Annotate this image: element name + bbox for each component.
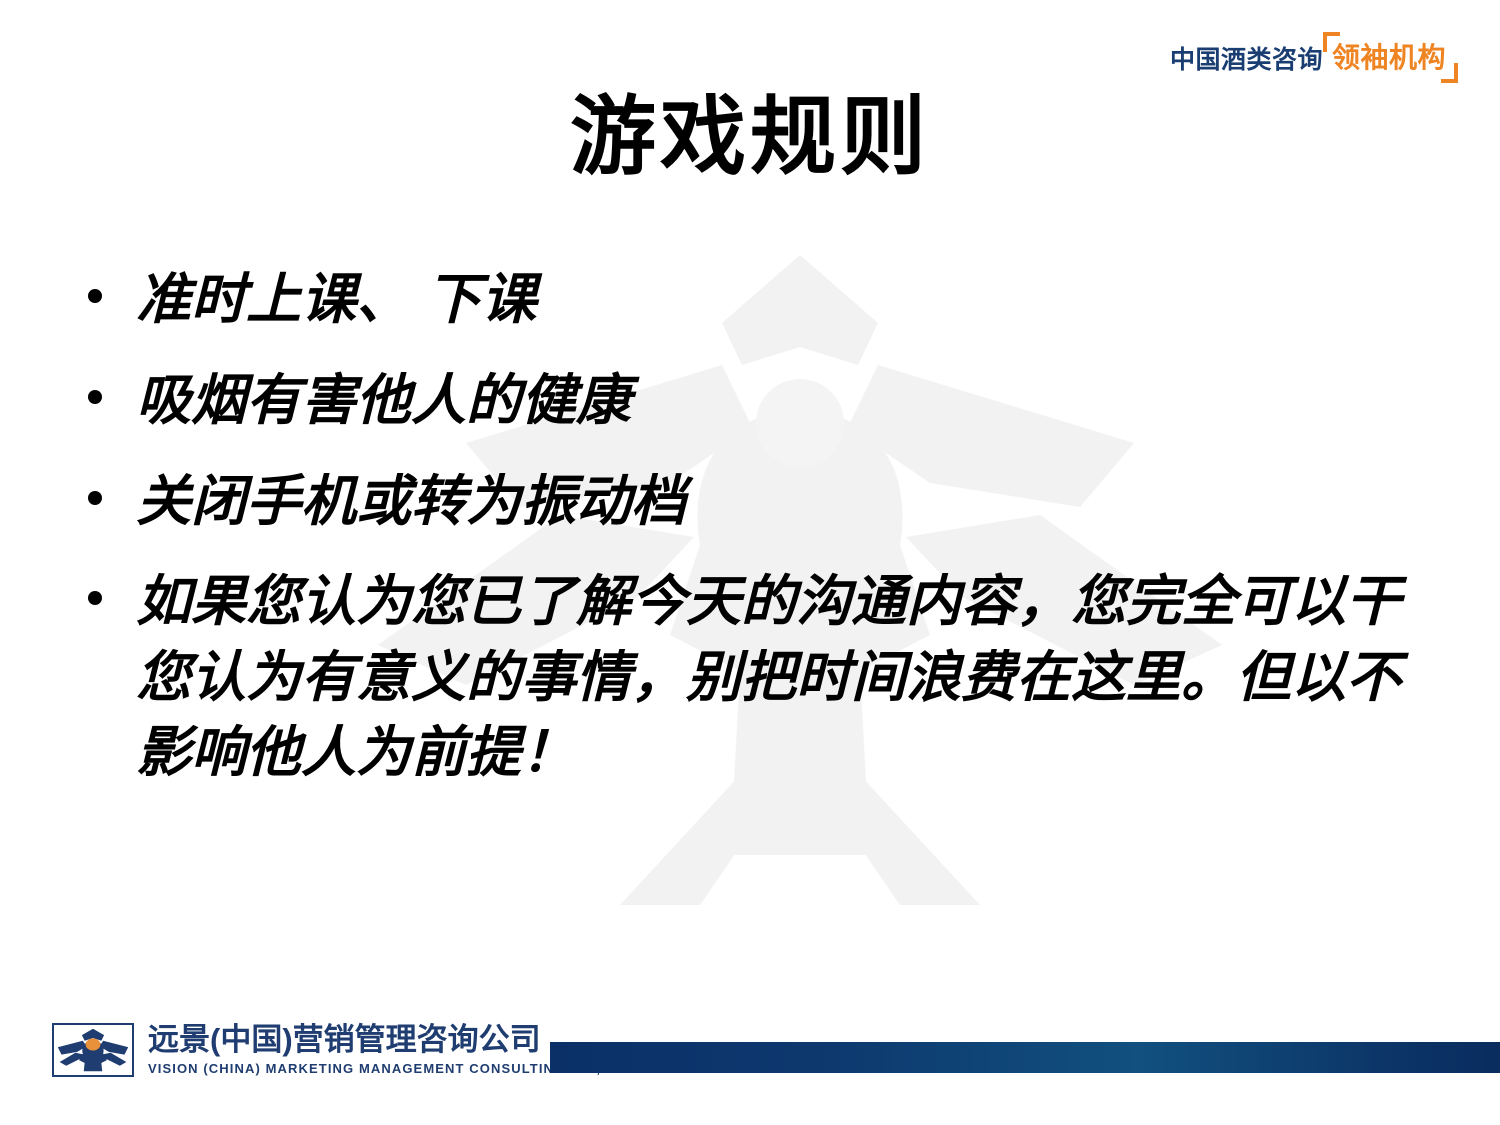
bullet-dot-icon — [88, 390, 102, 404]
list-item: 准时上课、 下课 — [88, 262, 1418, 337]
slide-footer: 远景(中国)营销管理咨询公司 VISION (CHINA) MARKETING … — [0, 1017, 1500, 1125]
company-logo: 远景(中国)营销管理咨询公司 VISION (CHINA) MARKETING … — [52, 1023, 629, 1077]
brand-highlight-wrapper: 领袖机构 — [1323, 42, 1458, 72]
bullet-phone-label: 关闭手机或转为振动档 — [136, 464, 1418, 539]
logo-accent-dot — [86, 1038, 101, 1050]
bracket-bottom-right-icon — [1441, 63, 1458, 83]
bullet-on-time-label: 准时上课、 下课 — [136, 262, 1418, 337]
list-item: 吸烟有害他人的健康 — [88, 363, 1418, 438]
bracket-top-left-icon — [1323, 32, 1340, 52]
list-item: 如果您认为您已了解今天的沟通内容，您完全可以干您认为有意义的事情，别把时间浪费在… — [88, 564, 1418, 790]
bullet-freedom-label: 如果您认为您已了解今天的沟通内容，您完全可以干您认为有意义的事情，别把时间浪费在… — [136, 564, 1418, 790]
brand-highlight-label: 领袖机构 — [1332, 42, 1446, 72]
slide-canvas: 中国酒类咨询 领袖机构 游戏规则 准时上课、 下课 吸烟有害他人的健康 关闭手机… — [0, 0, 1500, 1125]
list-item: 关闭手机或转为振动档 — [88, 464, 1418, 539]
page-title: 游戏规则 — [0, 88, 1500, 187]
brand-lockup: 中国酒类咨询 领袖机构 — [1170, 42, 1458, 73]
brand-prefix-label: 中国酒类咨询 — [1170, 42, 1323, 73]
footer-accent-bar — [550, 1042, 1500, 1073]
bullet-dot-icon — [88, 491, 102, 505]
bullet-smoking-label: 吸烟有害他人的健康 — [136, 363, 1418, 438]
bullet-list: 准时上课、 下课 吸烟有害他人的健康 关闭手机或转为振动档 如果您认为您已了解今… — [88, 262, 1418, 790]
bullet-dot-icon — [88, 289, 102, 303]
eagle-emblem-icon — [52, 1023, 134, 1077]
bullet-dot-icon — [88, 591, 102, 605]
